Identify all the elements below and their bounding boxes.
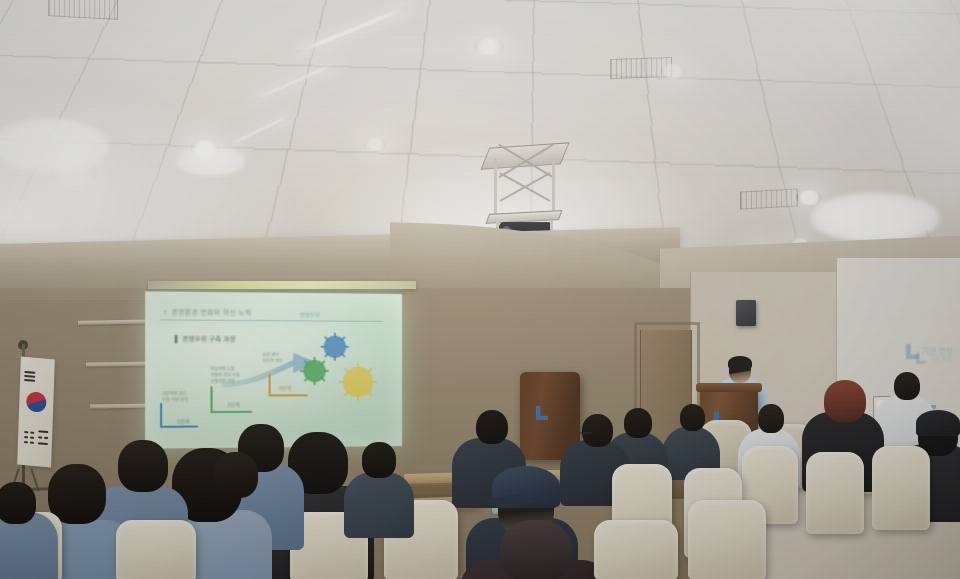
person-head <box>48 464 106 524</box>
slide-title: I. 경영환경 변화와 혁신 노력 <box>164 306 370 318</box>
ceiling-downlight <box>660 64 686 79</box>
slide-step-2-label: 2단계 <box>227 403 239 411</box>
screen-valance <box>148 281 416 289</box>
person-head <box>680 404 705 431</box>
organization-logo-text: 기관 명칭 <box>929 354 952 363</box>
auditorium-seat <box>872 446 930 530</box>
ceiling-light-panel <box>810 192 940 244</box>
trigram-gon <box>24 436 28 438</box>
ceiling-light-panel <box>176 146 246 176</box>
lift-post <box>494 158 497 220</box>
conference-room-photo: I. 경영환경 변화와 혁신 노력 ▌경쟁우위 구축 과정 경쟁우위 <box>0 0 960 579</box>
trigram-geon <box>24 375 35 378</box>
lectern-logo-icon <box>536 406 548 420</box>
slide-step-3-notes: 성과 관리 지속적 개선 <box>262 352 307 364</box>
auditorium-seat <box>688 500 766 579</box>
slide-cloud-label: 경쟁우위 <box>299 311 320 319</box>
person-body <box>344 472 414 538</box>
trigram-gon <box>30 437 34 439</box>
flag-cloth <box>17 357 55 468</box>
organization-logo-icon <box>916 352 926 364</box>
slide-heading-text: 경쟁우위 구축 과정 <box>182 336 236 343</box>
eyeglasses-icon <box>580 432 592 434</box>
ceiling-vent <box>740 188 798 209</box>
person-head <box>362 442 396 478</box>
auditorium-seat <box>594 520 678 579</box>
taeguk-symbol <box>26 391 47 413</box>
trigram-gon <box>30 432 34 434</box>
wall-speaker-icon <box>736 300 756 326</box>
ceiling-downlight <box>474 38 504 55</box>
podium-top-surface <box>696 383 762 392</box>
slide-step-2-notes: 핵심역량 도출 차별화 전략 수립 실행과제 선정 <box>211 366 259 384</box>
person-head <box>758 404 784 433</box>
projection-screen: I. 경영환경 변화와 혁신 노력 ▌경쟁우위 구축 과정 경쟁우위 <box>145 291 402 448</box>
trigram-gon <box>30 442 34 444</box>
person-head <box>118 440 168 492</box>
slide-step-3-label: 3단계 <box>279 386 291 394</box>
trigram-geon <box>24 379 35 382</box>
slide-node-yellow <box>338 362 378 402</box>
person-head <box>624 408 652 438</box>
person-head <box>0 482 36 524</box>
trigram-gon <box>24 441 28 443</box>
trigram-gam <box>38 430 48 433</box>
person-head <box>824 380 866 422</box>
slide-step-1-label: 1단계 <box>177 419 190 427</box>
trigram-geon <box>24 371 35 374</box>
auditorium-seat <box>116 520 196 579</box>
person-head <box>894 372 920 400</box>
person-head <box>476 410 508 444</box>
person-head <box>582 414 613 447</box>
auditorium-seat <box>806 452 864 534</box>
slide-heading-bullet: ▌ <box>175 336 180 343</box>
back-wall-logo: 기관 명칭 <box>916 352 952 364</box>
slide-heading: ▌경쟁우위 구축 과정 <box>175 333 236 344</box>
person-head <box>500 520 572 579</box>
baseball-cap <box>916 410 960 436</box>
trigram-gam <box>38 442 48 445</box>
trigram-gam <box>44 437 48 439</box>
trigram-gam <box>38 436 42 438</box>
person-head <box>214 452 258 498</box>
slide-step-1-notes: 내부역량 진단 자원·역량 분석 <box>162 391 204 404</box>
presenter-hair <box>728 356 752 370</box>
ceiling-downlight <box>364 138 386 151</box>
trigram-gon <box>24 431 28 433</box>
ceiling-downlight <box>796 190 822 205</box>
